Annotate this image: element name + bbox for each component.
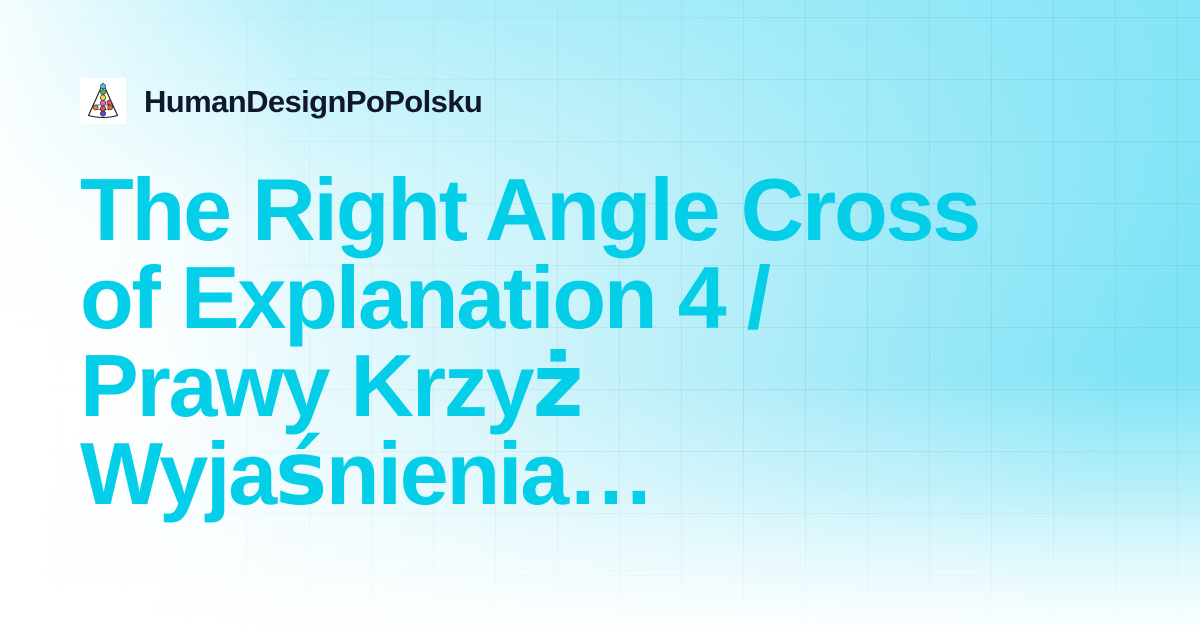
human-design-bodygraph-icon [80, 78, 126, 124]
page-title-line: Prawy Krzyż [80, 342, 1090, 430]
page-title-line: Wyjaśnienia… [80, 430, 1090, 518]
brand-row: HumanDesignPoPolsku [80, 78, 1120, 124]
page-title-text: of Explanation 4 / [80, 248, 769, 347]
page-title-line: The Right Angle Cross [80, 166, 1090, 254]
page-title-text: The Right Angle Cross [80, 160, 979, 259]
card-content: HumanDesignPoPolsku The Right Angle Cros… [0, 0, 1200, 518]
og-preview-card: HumanDesignPoPolsku The Right Angle Cros… [0, 0, 1200, 630]
page-title-text: ś [275, 422, 326, 525]
brand-name: HumanDesignPoPolsku [144, 86, 482, 117]
page-title-text: Wyja [80, 424, 275, 523]
page-title-text: ż [532, 334, 582, 437]
page-title-line: of Explanation 4 / [80, 254, 1090, 342]
page-title-text: Prawy Krzy [80, 336, 532, 435]
page-title: The Right Angle Crossof Explanation 4 /P… [80, 166, 1090, 518]
page-title-text: nienia… [326, 424, 653, 523]
